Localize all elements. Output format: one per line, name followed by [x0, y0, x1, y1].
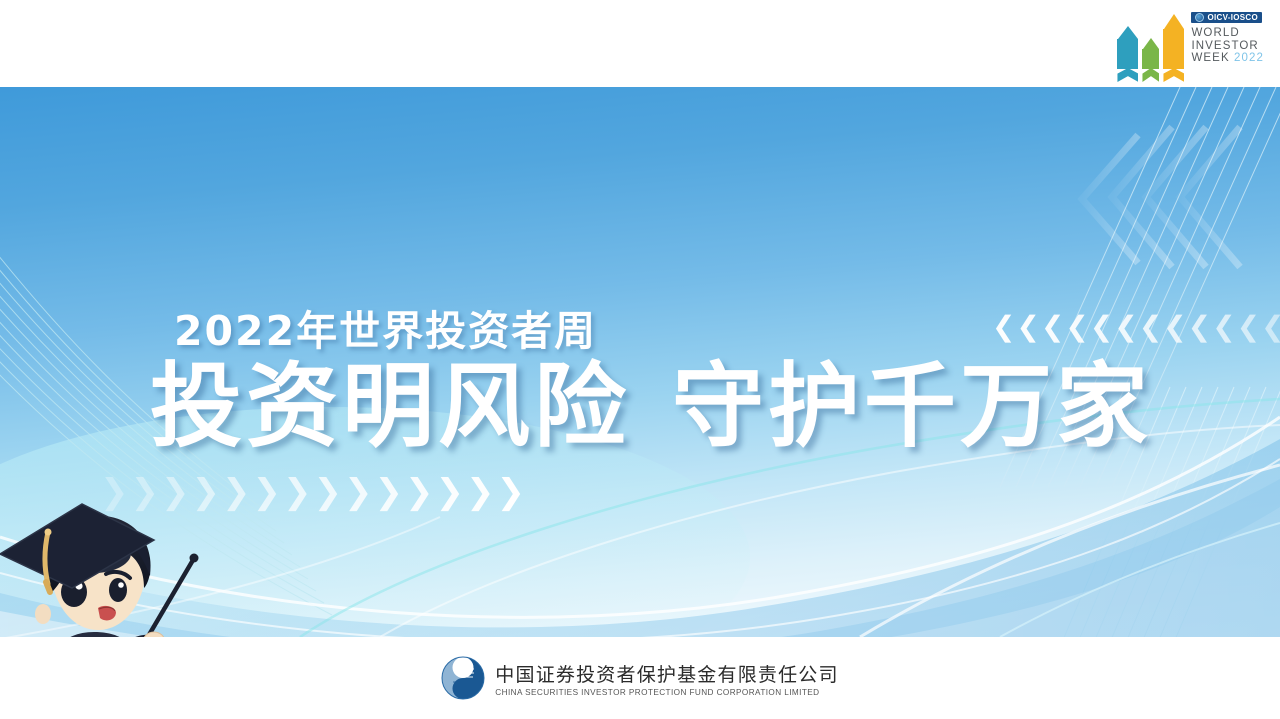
- footer-bar: 中国证券投资者保护基金有限责任公司 CHINA SECURITIES INVES…: [0, 637, 1280, 719]
- sipf-name-block: 中国证券投资者保护基金有限责任公司 CHINA SECURITIES INVES…: [495, 660, 838, 697]
- chevron-right-icon: ❯: [283, 475, 312, 509]
- wiw-line-investor: INVESTOR: [1191, 40, 1264, 53]
- eye-right: [109, 578, 127, 602]
- globe-icon: [1195, 13, 1204, 22]
- headline-part-2: 守护千万家: [672, 353, 1152, 460]
- pencil-icons-group: [1117, 16, 1184, 82]
- pencil-green-icon: [1142, 38, 1159, 82]
- chevron-left-icon: ❮: [992, 313, 1015, 341]
- chevron-right-icon: ❯: [405, 475, 434, 509]
- chevron-right-icon: ❯: [436, 475, 465, 509]
- chevron-left-icon: ❮: [1090, 313, 1113, 341]
- chevron-left-icon: ❮: [1016, 313, 1039, 341]
- pointer-stick-icon: [146, 554, 199, 641]
- chevron-left-icon: ❮: [1237, 313, 1260, 341]
- chevron-left-icon: ❮: [1041, 313, 1064, 341]
- chevron-right-icon: ❯: [375, 475, 404, 509]
- pencil-yellow-icon: [1163, 14, 1184, 82]
- header-bar: OICV-IOSCO WORLD INVESTOR WEEK 2022: [0, 0, 1280, 87]
- wiw-year-label: 2022: [1234, 52, 1264, 64]
- sipf-logo-icon: [441, 656, 485, 700]
- chevron-right-icon: ❯: [466, 475, 495, 509]
- wiw-line-world: WORLD: [1191, 27, 1264, 40]
- company-name-chinese: 中国证券投资者保护基金有限责任公司: [495, 660, 838, 687]
- chevron-right-icon: ❯: [497, 475, 526, 509]
- chevron-left-icon: ❮: [1163, 313, 1186, 341]
- chevron-right-icon: ❯: [222, 475, 251, 509]
- chevron-left-icon: ❮: [1139, 313, 1162, 341]
- chevron-left-icon: ❮: [1212, 313, 1235, 341]
- banner-subtitle: 2022年世界投资者周: [174, 297, 597, 357]
- iosco-badge: OICV-IOSCO: [1191, 12, 1262, 23]
- wiw-week-label: WEEK: [1191, 52, 1229, 64]
- poster-stage: OICV-IOSCO WORLD INVESTOR WEEK 2022: [0, 0, 1280, 719]
- world-investor-week-logo: OICV-IOSCO WORLD INVESTOR WEEK 2022: [1117, 6, 1264, 82]
- wiw-wordmark: WORLD INVESTOR WEEK 2022: [1191, 27, 1264, 65]
- banner-headline: 投资明风险守护千万家: [150, 359, 1152, 456]
- company-name-english: CHINA SECURITIES INVESTOR PROTECTION FUN…: [495, 688, 838, 697]
- chevron-left-icon: ❮: [1188, 313, 1211, 341]
- wiw-logo-text-block: OICV-IOSCO WORLD INVESTOR WEEK 2022: [1191, 10, 1264, 82]
- iosco-badge-label: OICV-IOSCO: [1207, 13, 1258, 22]
- chevron-right-icon: ❯: [253, 475, 282, 509]
- headline-part-1: 投资明风险: [150, 353, 630, 460]
- ear: [35, 604, 51, 624]
- pencil-blue-icon: [1117, 26, 1138, 82]
- chevron-left-icon: ❮: [1065, 313, 1088, 341]
- chevron-right-icon: ❯: [314, 475, 343, 509]
- chevron-strip-left-pointing: ❮ ❮ ❮ ❮ ❮ ❮ ❮ ❮ ❮ ❮ ❮ ❮ ❮ ❮: [992, 313, 1280, 341]
- chevron-left-icon: ❮: [1114, 313, 1137, 341]
- chevron-right-icon: ❯: [344, 475, 373, 509]
- wiw-line-week-year: WEEK 2022: [1191, 52, 1264, 65]
- chevron-left-icon: ❮: [1261, 313, 1280, 341]
